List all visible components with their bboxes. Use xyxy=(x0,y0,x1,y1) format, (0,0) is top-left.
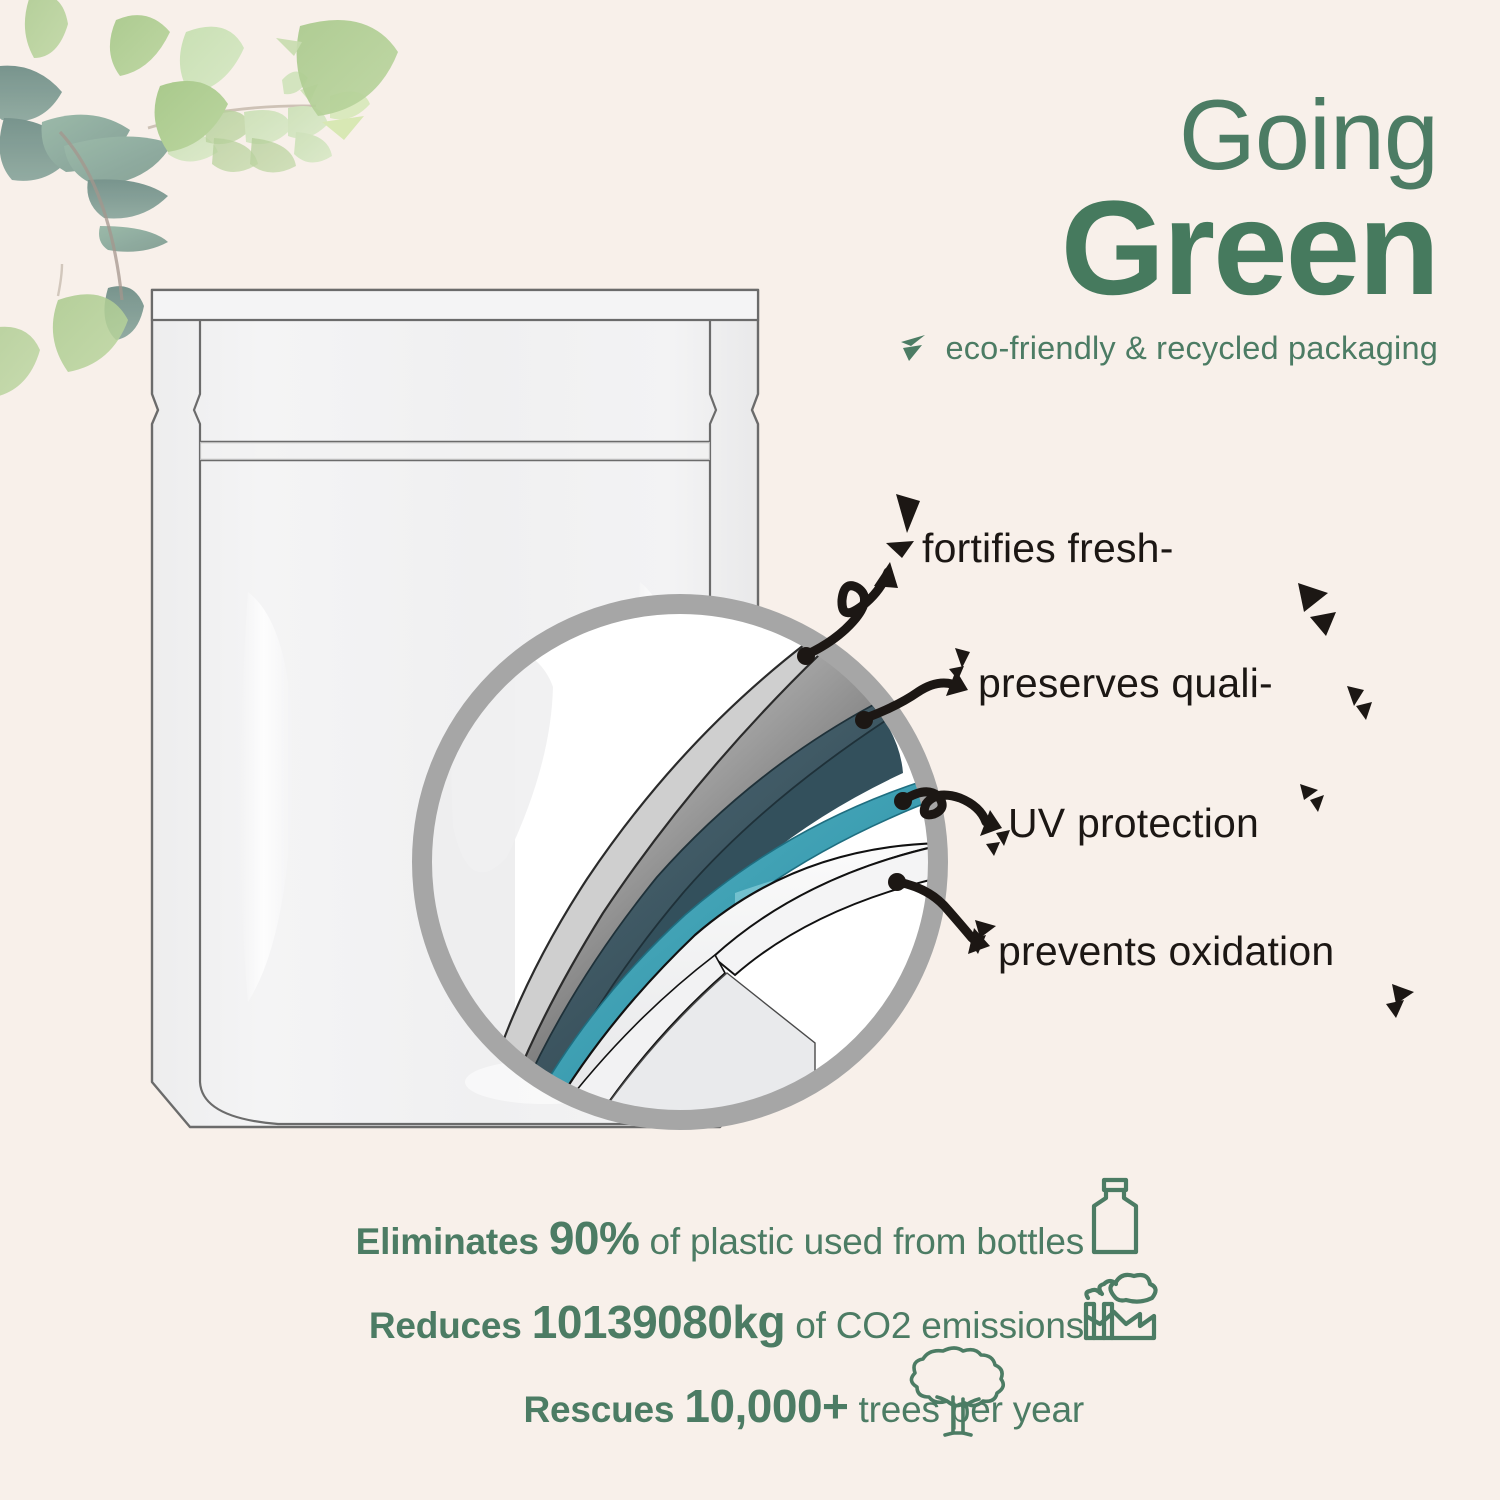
tree-icon xyxy=(897,1345,1013,1447)
arrowhead-2 xyxy=(980,810,1002,836)
stat-lead: Reduces xyxy=(369,1305,522,1346)
sparkle-triangle-icon-g1 xyxy=(975,920,996,938)
stat-value: 10,000+ xyxy=(684,1380,848,1432)
stat-lead: Eliminates xyxy=(356,1221,539,1262)
stat-value: 90% xyxy=(549,1212,640,1264)
sparkle-triangle-icon-a2 xyxy=(886,541,914,558)
stat-tail: of CO2 emissions xyxy=(795,1305,1084,1346)
callout-label-prevents-oxidation: prevents oxidation xyxy=(998,928,1334,975)
sparkle-triangle-icon-d2 xyxy=(1356,702,1372,720)
headline-line-2: Green xyxy=(798,185,1438,314)
sparkle-triangle-icon-h2 xyxy=(1386,1000,1404,1018)
headline-block: Going Green eco-friendly & recycled pack… xyxy=(798,88,1438,367)
subtitle-row: eco-friendly & recycled packaging xyxy=(798,330,1438,367)
stat-lead: Rescues xyxy=(523,1389,674,1430)
pouch-zipper-band xyxy=(200,442,710,460)
sparkle-triangle-icon-f2 xyxy=(986,842,1000,856)
sparkle-triangle-icon-g2 xyxy=(968,935,986,954)
going-green-infographic: Going Green eco-friendly & recycled pack… xyxy=(0,0,1500,1500)
sparkle-triangle-icon-b2 xyxy=(1310,612,1336,636)
factory-smoke-icon xyxy=(1078,1264,1162,1344)
sparkle-triangle-icon xyxy=(899,331,931,365)
leaf-sprig-light xyxy=(148,71,370,172)
headline-subtitle: eco-friendly & recycled packaging xyxy=(945,330,1438,367)
sparkle-triangle-icon-e1 xyxy=(1300,784,1318,800)
arrowhead-3 xyxy=(968,928,990,954)
sparkle-triangle-icon-f1 xyxy=(996,830,1010,846)
sparkle-triangle-icon-d1 xyxy=(1347,686,1364,706)
pouch-top-seal xyxy=(152,290,758,320)
sparkle-triangle-icon-a1 xyxy=(896,494,920,533)
stat-row: Eliminates 90% of plastic used from bott… xyxy=(0,1196,1090,1280)
callout-label-fortifies: fortifies fresh- xyxy=(922,525,1174,572)
sparkle-triangle-icon-b1 xyxy=(1298,583,1328,612)
magnifier-cross-section xyxy=(395,575,965,1150)
callout-label-uv-protection: UV protection xyxy=(1008,800,1259,847)
bottle-icon xyxy=(1078,1176,1152,1262)
sparkle-triangle-icon-h1 xyxy=(1392,984,1414,1004)
stat-text: Eliminates 90% of plastic used from bott… xyxy=(356,1211,1084,1265)
sparkle-triangle-icon-e2 xyxy=(1310,795,1324,812)
stat-tail: of plastic used from bottles xyxy=(650,1221,1085,1262)
stat-text: Reduces 10139080kg of CO2 emissions xyxy=(369,1295,1084,1349)
callout-label-preserves: preserves quali- xyxy=(978,660,1273,707)
headline-line-1: Going xyxy=(798,88,1438,181)
stat-value: 10139080kg xyxy=(532,1296,785,1348)
